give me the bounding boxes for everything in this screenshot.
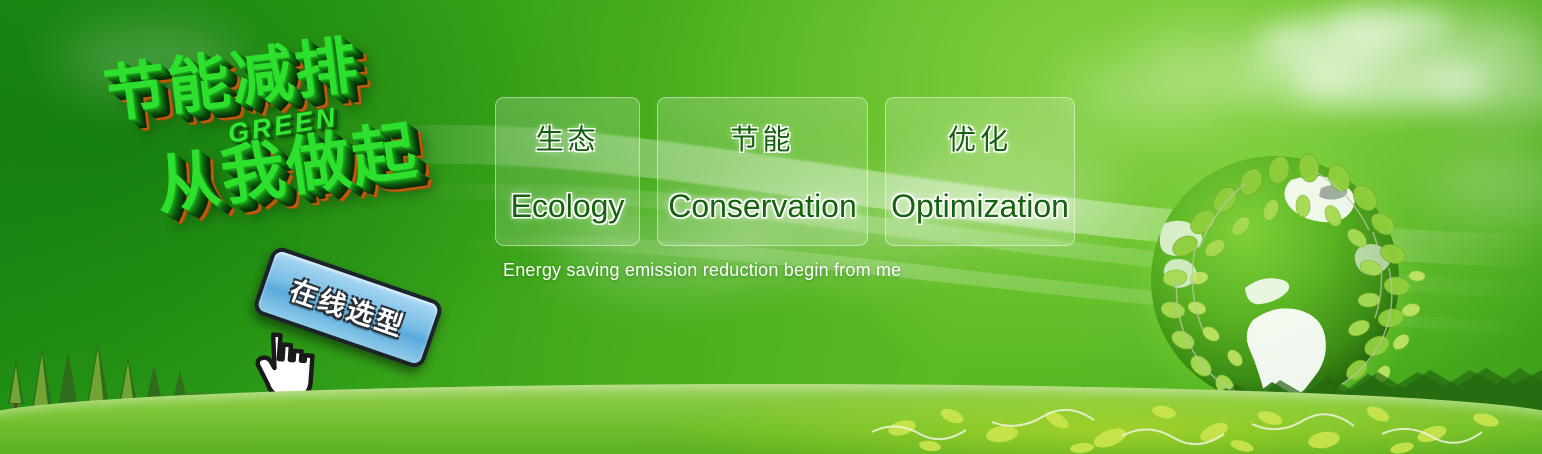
feature-card-conservation[interactable]: 节能 Conservation bbox=[657, 97, 868, 246]
tagline-text: Energy saving emission reduction begin f… bbox=[503, 260, 901, 281]
cloud-shape bbox=[1258, 16, 1408, 70]
cloud-shape bbox=[1400, 14, 1542, 74]
feature-card-title-cn: 节能 bbox=[730, 118, 794, 158]
grass-field bbox=[0, 384, 1542, 454]
cloud-shape bbox=[1430, 150, 1542, 220]
feature-card-title-en: Optimization bbox=[891, 188, 1069, 225]
feature-card-list: 生态 Ecology 节能 Conservation 优化 Optimizati… bbox=[495, 97, 1075, 246]
feature-card-title-en: Ecology bbox=[511, 188, 625, 225]
green-energy-banner: 节能减排 GREEN 从我做起 在线选型 生态 Ecology 节能 Conse… bbox=[0, 0, 1542, 454]
leafy-green-globe-icon bbox=[1125, 128, 1425, 428]
cloud-shape bbox=[1060, 60, 1240, 130]
feature-card-title-en: Conservation bbox=[668, 188, 857, 225]
cloud-shape bbox=[1290, 54, 1490, 110]
cloud-shape bbox=[1330, 4, 1450, 48]
feature-card-optimization[interactable]: 优化 Optimization bbox=[885, 97, 1075, 246]
feature-card-ecology[interactable]: 生态 Ecology bbox=[495, 97, 640, 246]
cloud-shape bbox=[1432, 60, 1542, 116]
cloud-shape bbox=[1230, 44, 1360, 106]
headline-line-2: 从我做起 bbox=[151, 118, 421, 218]
feature-card-title-cn: 生态 bbox=[535, 118, 599, 158]
cloud-shape bbox=[1140, 28, 1280, 86]
feature-card-title-cn: 优化 bbox=[948, 118, 1012, 158]
